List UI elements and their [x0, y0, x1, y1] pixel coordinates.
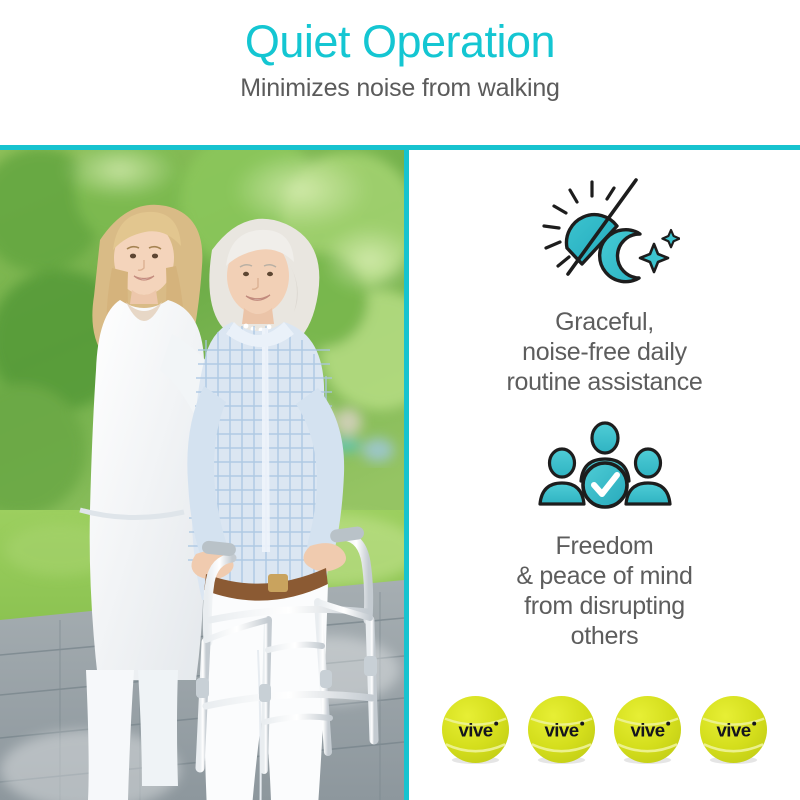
vertical-divider — [404, 145, 409, 800]
feature-line: Graceful, — [506, 307, 702, 337]
feature-line: Freedom — [516, 531, 692, 561]
feature-line: others — [516, 621, 692, 651]
feature-line: routine assistance — [506, 367, 702, 397]
tennis-ball-3: vive — [613, 695, 682, 764]
product-ball-row: vive vive vive — [409, 686, 800, 772]
header: Quiet Operation Minimizes noise from wal… — [0, 0, 800, 145]
tennis-ball-4: vive — [699, 695, 768, 764]
svg-text:vive: vive — [716, 719, 750, 740]
feature-text-quiet: Graceful, noise-free daily routine assis… — [506, 307, 702, 397]
page-subtitle: Minimizes noise from walking — [240, 73, 560, 103]
tennis-ball-2: vive — [527, 695, 596, 764]
svg-text:vive: vive — [458, 719, 492, 740]
lifestyle-photo — [0, 150, 404, 800]
feature-item-freedom: Freedom & peace of mind from disrupting … — [409, 421, 800, 651]
svg-text:vive: vive — [630, 719, 664, 740]
svg-text:vive: vive — [544, 719, 578, 740]
feature-line: & peace of mind — [516, 561, 692, 591]
page-title: Quiet Operation — [245, 16, 555, 68]
feature-text-freedom: Freedom & peace of mind from disrupting … — [516, 531, 692, 651]
feature-item-quiet: Graceful, noise-free daily routine assis… — [409, 172, 800, 397]
sun-moon-quiet-icon — [530, 172, 680, 297]
feature-line: noise-free daily — [506, 337, 702, 367]
feature-line: from disrupting — [516, 591, 692, 621]
people-check-icon — [535, 421, 675, 521]
product-feature-card: Quiet Operation Minimizes noise from wal… — [0, 0, 800, 800]
tennis-ball-1: vive — [441, 695, 510, 764]
